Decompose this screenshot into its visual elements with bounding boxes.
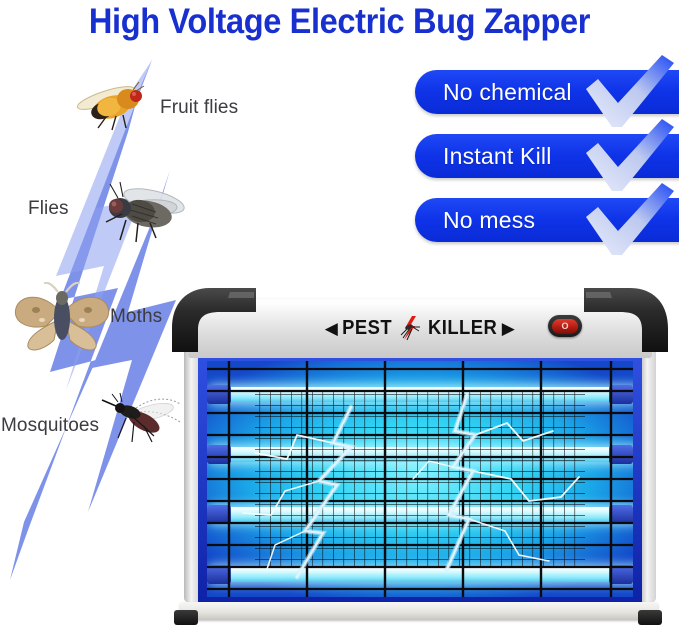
product-marketing-image: High Voltage Electric Bug Zapper — [0, 0, 679, 642]
electric-grid-housing — [198, 352, 642, 606]
housefly-image — [96, 178, 192, 248]
insect-label-moths: Moths — [110, 306, 162, 328]
feature-badge-label: No mess — [415, 207, 535, 234]
device-side-rail-right — [640, 334, 656, 602]
brand-text-killer: KILLER — [428, 317, 497, 340]
moth-image — [8, 282, 116, 356]
power-switch-face: O — [552, 319, 578, 334]
feature-badge-label: Instant Kill — [415, 143, 552, 170]
fruit-fly-image — [76, 76, 164, 138]
brand-text-pest: PEST — [342, 317, 392, 340]
bug-zapper-device: ◀ PEST KILLER ▶ O — [170, 286, 670, 638]
top-panel-gloss — [196, 300, 644, 313]
insect-label-flies: Flies — [28, 198, 69, 220]
device-foot — [638, 610, 662, 625]
feature-badge-label: No chemical — [415, 79, 572, 106]
check-icon — [584, 183, 676, 259]
device-foot — [174, 610, 198, 625]
power-switch[interactable]: O — [548, 315, 582, 337]
corner-bumper-left — [170, 286, 256, 352]
arrow-right-icon: ▶ — [502, 320, 516, 337]
power-switch-marking: O — [561, 322, 568, 331]
device-brand-logo: ◀ PEST KILLER ▶ — [300, 313, 540, 343]
electric-arc-graphic — [201, 355, 639, 603]
corner-bumper-right — [584, 286, 670, 352]
device-base-tray — [180, 602, 658, 620]
arrow-left-icon: ◀ — [325, 320, 339, 337]
page-title: High Voltage Electric Bug Zapper — [24, 2, 655, 42]
mosquito-lightning-logo — [397, 315, 423, 341]
insect-label-mosquitoes: Mosquitoes — [1, 415, 99, 437]
insect-label-fruit-flies: Fruit flies — [160, 97, 238, 119]
